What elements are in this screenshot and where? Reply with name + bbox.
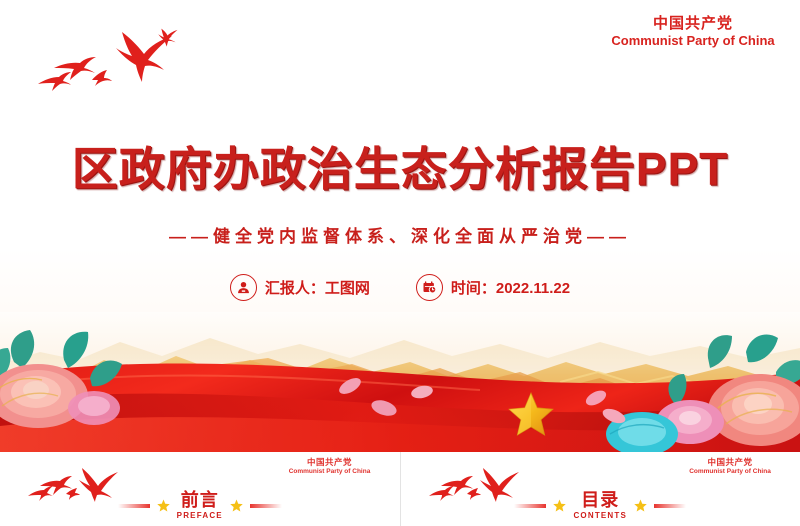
great-wall-mountains-illustration (0, 312, 800, 452)
gold-star-icon (634, 499, 647, 512)
thumbnail-labels: 目录 CONTENTS (573, 491, 627, 520)
cpc-brand-cn: 中国共产党 (670, 458, 790, 467)
thumbnail-title-cn: 前言 (177, 491, 223, 509)
cpc-brand-logo: 中国共产党 Communist Party of China (600, 16, 786, 47)
floating-petals-decoration (330, 370, 450, 430)
thumbnail-title-cn: 目录 (573, 491, 627, 509)
thumbnail-title-en: CONTENTS (573, 512, 627, 520)
cpc-brand-logo: 中国共产党 Communist Party of China (270, 458, 390, 475)
cpc-brand-cn: 中国共产党 (600, 16, 786, 31)
presenter-meta-item: 汇报人：工图网 (230, 274, 370, 301)
thumbnail-title-en: PREFACE (177, 512, 223, 520)
calendar-clock-icon (416, 274, 443, 301)
date-label: 时间：2022.11.22 (451, 277, 570, 298)
cpc-brand-logo: 中国共产党 Communist Party of China (670, 458, 790, 475)
page-title: 区政府办政治生态分析报告PPT (0, 133, 800, 199)
title-slide[interactable]: 中国共产党 Communist Party of China 区政府办政治生态分… (0, 0, 800, 452)
thumbnail-preface[interactable]: 中国共产党 Communist Party of China 前言 PREFAC… (0, 452, 400, 526)
decorative-bar-right (654, 504, 686, 508)
cpc-brand-en: Communist Party of China (670, 469, 790, 476)
flying-birds-icon (26, 24, 216, 94)
cpc-brand-en: Communist Party of China (600, 34, 786, 47)
decorative-bar-left (118, 504, 150, 508)
presenter-meta-row: 汇报人：工图网 时间：2022.11.22 (0, 274, 800, 301)
gold-star-icon (508, 392, 554, 436)
cpc-brand-cn: 中国共产党 (270, 458, 390, 467)
thumbnail-labels: 前言 PREFACE (177, 491, 223, 520)
thumbnail-title-group: 前言 PREFACE (0, 491, 400, 520)
gold-star-icon (230, 499, 243, 512)
peony-flowers-right-illustration (580, 330, 800, 452)
person-icon (230, 274, 257, 301)
presentation-canvas: 中国共产党 Communist Party of China 区政府办政治生态分… (0, 0, 800, 526)
presenter-label: 汇报人：工图网 (265, 277, 370, 298)
page-subtitle: ——健全党内监督体系、深化全面从严治党—— (0, 222, 800, 247)
decorative-bar-left (514, 504, 546, 508)
date-meta-item: 时间：2022.11.22 (416, 274, 570, 301)
peony-flowers-illustration (0, 326, 156, 438)
thumbnail-contents[interactable]: 中国共产党 Communist Party of China 目录 CONTEN… (400, 452, 800, 526)
thumbnail-title-group: 目录 CONTENTS (401, 491, 800, 520)
gold-star-icon (157, 499, 170, 512)
decorative-bar-right (250, 504, 282, 508)
cpc-brand-en: Communist Party of China (270, 469, 390, 476)
gold-star-icon (553, 499, 566, 512)
slide-thumbnail-strip: 中国共产党 Communist Party of China 前言 PREFAC… (0, 452, 800, 526)
